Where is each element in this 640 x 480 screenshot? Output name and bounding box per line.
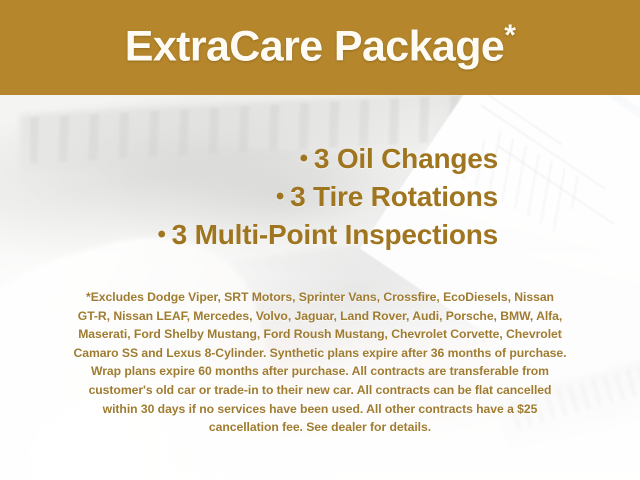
header-banner-shadow [0,475,640,480]
fineprint-line: Wrap plans expire 60 months after purcha… [32,362,608,381]
fineprint-line: Camaro SS and Lexus 8-Cylinder. Syntheti… [32,344,608,363]
fineprint-line: within 30 days if no services have been … [32,400,608,419]
fineprint-disclaimer: *Excludes Dodge Viper, SRT Motors, Sprin… [32,288,608,437]
header-banner: ExtraCare Package* [0,0,640,95]
benefit-item-label: 3 Tire Rotations [290,181,498,212]
benefit-item: •3 Tire Rotations [0,178,498,216]
fineprint-line: GT-R, Nissan LEAF, Mercedes, Volvo, Jagu… [32,307,608,326]
bullet-icon: • [276,185,284,209]
page-title-text: ExtraCare Package [125,22,504,70]
benefit-item: •3 Oil Changes [0,140,498,178]
page-title: ExtraCare Package* [125,21,516,68]
extracare-package-promo-card: ExtraCare Package* •3 Oil Changes •3 Tir… [0,0,640,480]
benefit-item-label: 3 Oil Changes [314,143,498,174]
fineprint-line: *Excludes Dodge Viper, SRT Motors, Sprin… [32,288,608,307]
fineprint-line: cancellation fee. See dealer for details… [32,418,608,437]
fineprint-line: Maserati, Ford Shelby Mustang, Ford Rous… [32,325,608,344]
bullet-icon: • [300,147,308,171]
bullet-icon: • [157,223,165,247]
fineprint-line: customer's old car or trade-in to their … [32,381,608,400]
benefits-list: •3 Oil Changes •3 Tire Rotations •3 Mult… [0,140,498,254]
page-title-asterisk: * [504,19,515,52]
benefit-item: •3 Multi-Point Inspections [0,216,498,254]
benefit-item-label: 3 Multi-Point Inspections [172,219,498,250]
